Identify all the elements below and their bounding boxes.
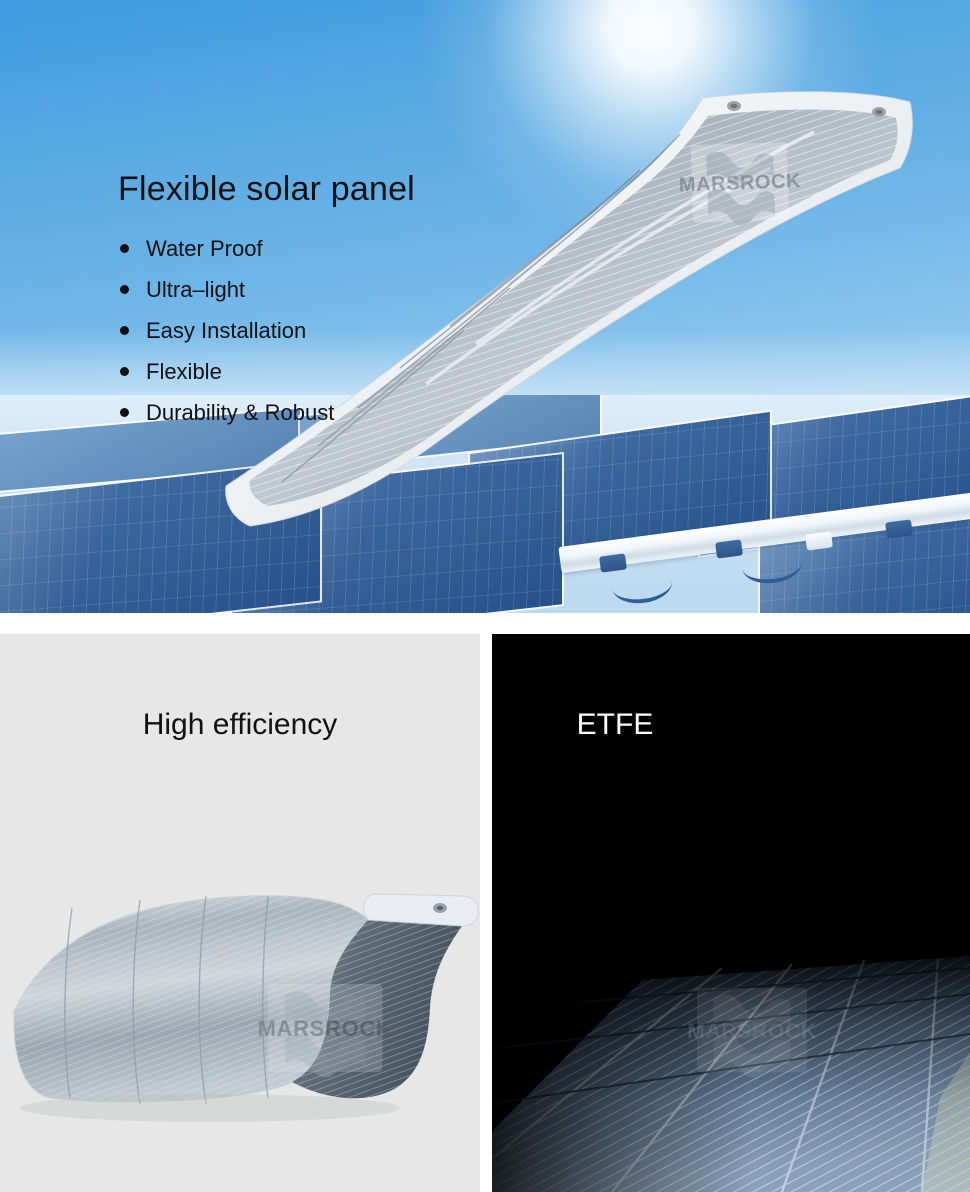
card-title: ETFE bbox=[492, 710, 970, 740]
rolled-panel-photo bbox=[0, 892, 480, 1192]
card-etfe: MARSROCK ETFE bbox=[492, 634, 970, 1192]
feature-item: Ultra–light bbox=[118, 279, 334, 301]
feature-cards-row: High efficiency bbox=[0, 634, 970, 1192]
product-banner: MARSROCK Flexible solar panel Water Proo… bbox=[0, 0, 970, 1192]
feature-list: Water Proof Ultra–light Easy Installatio… bbox=[118, 238, 334, 443]
feature-item: Water Proof bbox=[118, 238, 334, 260]
bullet-icon bbox=[120, 285, 129, 294]
card-title: High efficiency bbox=[0, 710, 480, 740]
feature-item: Durability & Robust bbox=[118, 402, 334, 424]
bullet-icon bbox=[120, 367, 129, 376]
module-clamp bbox=[715, 539, 743, 558]
feature-label: Flexible bbox=[146, 359, 222, 384]
feature-label: Ultra–light bbox=[146, 277, 245, 302]
feature-item: Easy Installation bbox=[118, 320, 334, 342]
feature-label: Water Proof bbox=[146, 236, 263, 261]
hero-section: MARSROCK Flexible solar panel Water Proo… bbox=[0, 0, 970, 613]
page-title: Flexible solar panel bbox=[118, 170, 415, 209]
feature-label: Easy Installation bbox=[146, 318, 306, 343]
cell-fingers bbox=[492, 956, 970, 1192]
feature-item: Flexible bbox=[118, 361, 334, 383]
bullet-icon bbox=[120, 326, 129, 335]
bullet-icon bbox=[120, 244, 129, 253]
etfe-closeup-photo bbox=[492, 902, 970, 1192]
bullet-icon bbox=[120, 408, 129, 417]
card-high-efficiency: High efficiency bbox=[0, 634, 480, 1192]
feature-label: Durability & Robust bbox=[146, 400, 334, 425]
